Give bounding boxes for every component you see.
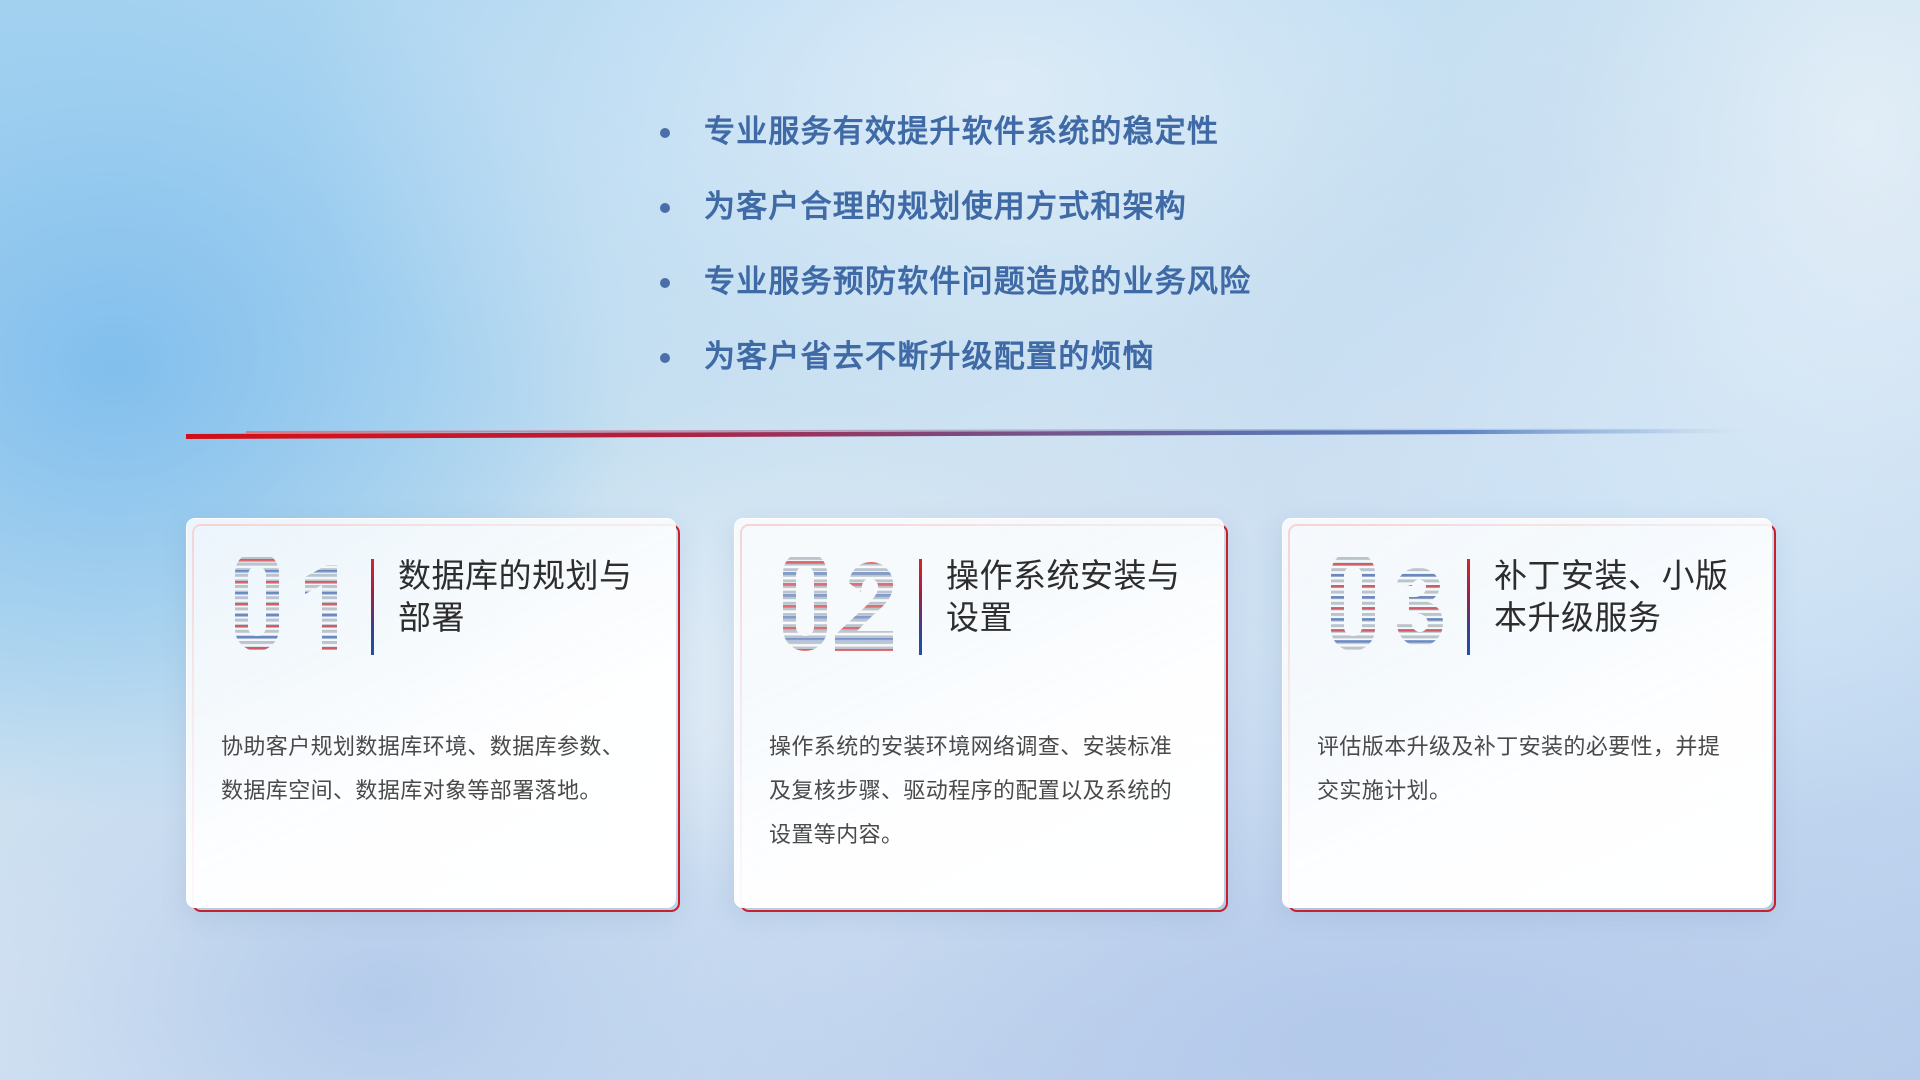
- bullet-list: 专业服务有效提升软件系统的稳定性 为客户合理的规划使用方式和架构 专业服务预防软…: [660, 112, 1640, 412]
- list-item: 为客户省去不断升级配置的烦恼: [660, 337, 1640, 378]
- card-header: 补丁安装、小版本升级服务: [1317, 553, 1731, 685]
- card-title-divider: [919, 559, 922, 655]
- card-title-divider: [371, 559, 374, 655]
- divider-shape: [186, 420, 1746, 442]
- feature-card[interactable]: 操作系统安装与设置 操作系统的安装环境网络调查、安装标准及复核步骤、驱动程序的配…: [734, 518, 1224, 908]
- list-item: 专业服务预防软件问题造成的业务风险: [660, 262, 1640, 303]
- card-description: 协助客户规划数据库环境、数据库参数、数据库空间、数据库对象等部署落地。: [221, 725, 635, 813]
- bullet-dot-icon: [660, 353, 670, 363]
- card-description: 操作系统的安装环境网络调查、安装标准及复核步骤、驱动程序的配置以及系统的设置等内…: [769, 725, 1183, 857]
- striped-number-03-icon: [1317, 557, 1463, 661]
- striped-number-01-icon: [221, 557, 367, 661]
- card-title: 补丁安装、小版本升级服务: [1494, 553, 1731, 639]
- striped-number-02-icon: [769, 557, 915, 661]
- card-body: 操作系统安装与设置 操作系统的安装环境网络调查、安装标准及复核步骤、驱动程序的配…: [734, 518, 1224, 908]
- card-title-divider: [1467, 559, 1470, 655]
- bullet-text: 为客户合理的规划使用方式和架构: [704, 187, 1187, 228]
- bullet-dot-icon: [660, 278, 670, 288]
- section-divider: [186, 420, 1746, 442]
- list-item: 为客户合理的规划使用方式和架构: [660, 187, 1640, 228]
- card-title: 数据库的规划与部署: [398, 553, 635, 639]
- card-header: 数据库的规划与部署: [221, 553, 635, 685]
- bullet-text: 专业服务有效提升软件系统的稳定性: [704, 112, 1219, 153]
- card-body: 补丁安装、小版本升级服务 评估版本升级及补丁安装的必要性，并提交实施计划。: [1282, 518, 1772, 908]
- feature-card-row: 数据库的规划与部署 协助客户规划数据库环境、数据库参数、数据库空间、数据库对象等…: [186, 518, 1772, 908]
- bullet-dot-icon: [660, 128, 670, 138]
- card-body: 数据库的规划与部署 协助客户规划数据库环境、数据库参数、数据库空间、数据库对象等…: [186, 518, 676, 908]
- card-header: 操作系统安装与设置: [769, 553, 1183, 685]
- card-number-striped: [1317, 557, 1463, 661]
- list-item: 专业服务有效提升软件系统的稳定性: [660, 112, 1640, 153]
- card-number-striped: [769, 557, 915, 661]
- bullet-text: 专业服务预防软件问题造成的业务风险: [704, 262, 1251, 303]
- card-title: 操作系统安装与设置: [946, 553, 1183, 639]
- bullet-text: 为客户省去不断升级配置的烦恼: [704, 337, 1155, 378]
- card-number-striped: [221, 557, 367, 661]
- feature-card[interactable]: 补丁安装、小版本升级服务 评估版本升级及补丁安装的必要性，并提交实施计划。: [1282, 518, 1772, 908]
- feature-card[interactable]: 数据库的规划与部署 协助客户规划数据库环境、数据库参数、数据库空间、数据库对象等…: [186, 518, 676, 908]
- card-description: 评估版本升级及补丁安装的必要性，并提交实施计划。: [1317, 725, 1731, 813]
- bullet-dot-icon: [660, 203, 670, 213]
